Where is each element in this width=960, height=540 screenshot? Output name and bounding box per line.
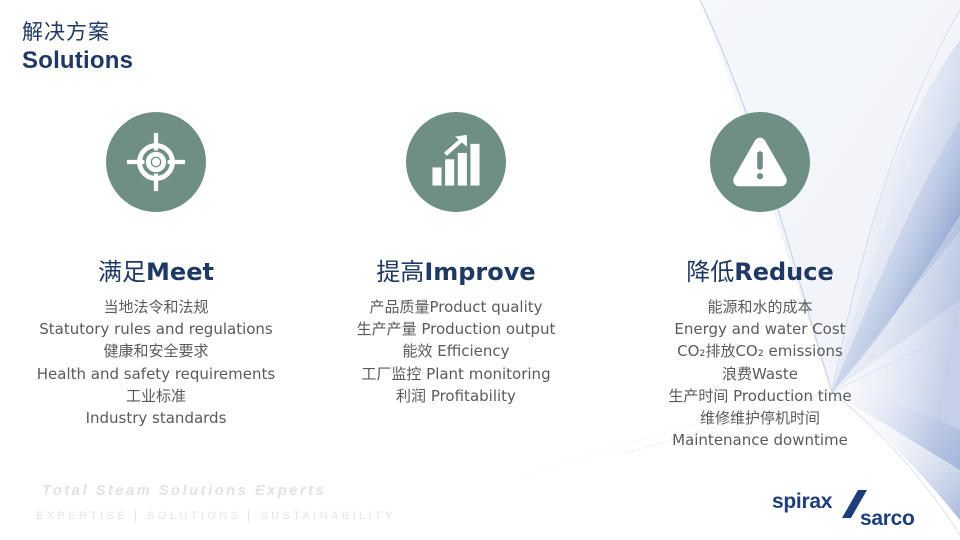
warning-triangle-icon bbox=[729, 131, 791, 193]
page-title-english: Solutions bbox=[22, 47, 133, 75]
column-heading-en: Reduce bbox=[734, 258, 834, 286]
page-title-chinese: 解决方案 bbox=[22, 20, 133, 45]
column-bullets-improve: 产品质量Product quality 生产产量 Production outp… bbox=[357, 296, 556, 407]
bullet-item: 维修维护停机时间 bbox=[668, 407, 851, 429]
bar-chart-growth-icon-badge bbox=[406, 112, 506, 212]
footer-pillars: EXPERTISE SOLUTIONS SUSTAINABILITY bbox=[36, 509, 396, 523]
bullet-item: CO₂排放CO₂ emissions bbox=[668, 340, 851, 362]
solution-column-improve: 提高Improve 产品质量Product quality 生产产量 Produ… bbox=[306, 112, 606, 451]
bullet-item: 生产产量 Production output bbox=[357, 318, 556, 340]
column-heading-cn: 提高 bbox=[376, 258, 424, 286]
bullet-item: Statutory rules and regulations bbox=[37, 318, 275, 340]
solution-columns: 满足Meet 当地法令和法规 Statutory rules and regul… bbox=[0, 112, 960, 451]
bullet-item: 生产时间 Production time bbox=[668, 385, 851, 407]
crosshair-target-icon-badge bbox=[106, 112, 206, 212]
column-heading-cn: 满足 bbox=[98, 258, 146, 286]
page-title: 解决方案 Solutions bbox=[22, 20, 133, 75]
solution-column-reduce: 降低Reduce 能源和水的成本 Energy and water Cost C… bbox=[610, 112, 910, 451]
bullet-item: Health and safety requirements bbox=[37, 363, 275, 385]
column-heading-en: Meet bbox=[146, 258, 214, 286]
bullet-item: 工业标准 bbox=[37, 385, 275, 407]
column-bullets-meet: 当地法令和法规 Statutory rules and regulations … bbox=[37, 296, 275, 429]
bullet-item: 产品质量Product quality bbox=[357, 296, 556, 318]
bullet-item: 工厂监控 Plant monitoring bbox=[357, 363, 556, 385]
bullet-item: 能源和水的成本 bbox=[668, 296, 851, 318]
bullet-item: Energy and water Cost bbox=[668, 318, 851, 340]
footer-tagline: Total Steam Solutions Experts bbox=[42, 483, 326, 499]
footer-pillar-sustainability: SUSTAINABILITY bbox=[260, 510, 395, 522]
bullet-item: 利润 Profitability bbox=[357, 385, 556, 407]
footer-pillar-solutions: SOLUTIONS bbox=[147, 510, 241, 522]
column-heading-improve: 提高Improve bbox=[376, 252, 535, 287]
slide-canvas: 解决方案 Solutions bbox=[0, 0, 960, 540]
solution-column-meet: 满足Meet 当地法令和法规 Statutory rules and regul… bbox=[6, 112, 306, 451]
column-heading-cn: 降低 bbox=[686, 258, 734, 286]
column-heading-en: Improve bbox=[424, 258, 535, 286]
bullet-item: 当地法令和法规 bbox=[37, 296, 275, 318]
footer-pillar-expertise: EXPERTISE bbox=[36, 510, 128, 522]
bullet-item: Industry standards bbox=[37, 407, 275, 429]
column-heading-meet: 满足Meet bbox=[98, 252, 214, 287]
logo-word-top: spirax bbox=[772, 490, 833, 513]
footer-divider bbox=[135, 509, 136, 523]
bullet-item: Maintenance downtime bbox=[668, 429, 851, 451]
crosshair-target-icon bbox=[125, 131, 187, 193]
bullet-item: 浪费Waste bbox=[668, 363, 851, 385]
footer-divider bbox=[248, 509, 249, 523]
bar-chart-growth-icon bbox=[427, 133, 485, 191]
bullet-item: 能效 Efficiency bbox=[357, 340, 556, 362]
column-heading-reduce: 降低Reduce bbox=[686, 252, 834, 287]
column-bullets-reduce: 能源和水的成本 Energy and water Cost CO₂排放CO₂ e… bbox=[668, 296, 851, 451]
warning-triangle-icon-badge bbox=[710, 112, 810, 212]
bullet-item: 健康和安全要求 bbox=[37, 340, 275, 362]
logo-word-bottom: sarco bbox=[860, 507, 915, 530]
spirax-sarco-logo: spirax sarco bbox=[772, 488, 944, 532]
